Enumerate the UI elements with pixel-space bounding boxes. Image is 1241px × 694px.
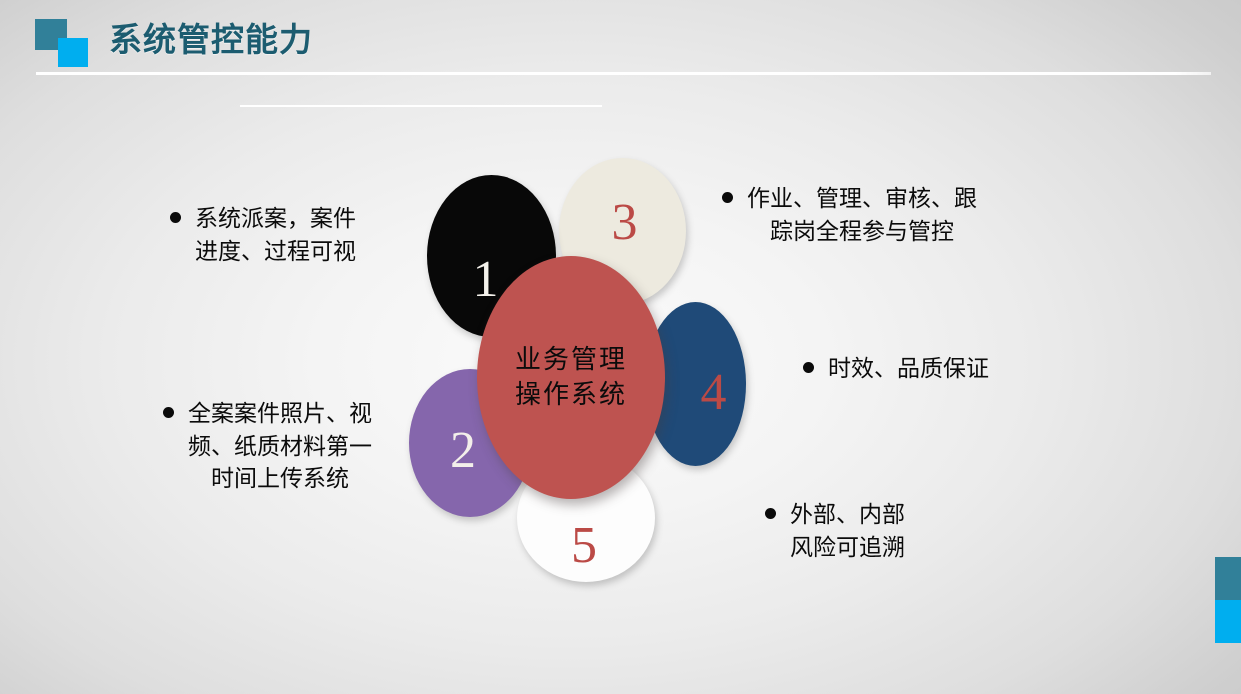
- petal-4-number: 4: [701, 367, 727, 419]
- callout-right-2: 时效、品质保证: [803, 352, 1043, 385]
- petal-5-number: 5: [571, 520, 597, 572]
- callout-right-1-text: 作业、管理、审核、跟 踪岗全程参与管控: [747, 182, 977, 247]
- callout-left-2: 全案案件照片、视 频、纸质材料第一 时间上传系统: [163, 397, 431, 495]
- bullet-dot-icon: [765, 508, 776, 519]
- center-label-line-2: 操作系统: [515, 378, 627, 412]
- petal-diagram: 1 3 2 4 5 业务管理 操作系统: [0, 0, 1241, 694]
- bullet-dot-icon: [803, 362, 814, 373]
- corner-square-bright-icon: [1215, 600, 1241, 643]
- bullet-dot-icon: [170, 212, 181, 223]
- callout-left-1: 系统派案，案件 进度、过程可视: [170, 202, 422, 267]
- callout-right-2-text: 时效、品质保证: [828, 352, 989, 385]
- petal-1-number: 1: [473, 254, 499, 306]
- bullet-dot-icon: [163, 407, 174, 418]
- slide-canvas: 系统管控能力 1 3 2 4 5 业务管理 操作系统 系统派案，案件 进度、过程…: [0, 0, 1241, 694]
- center-label-line-1: 业务管理: [515, 343, 627, 377]
- callout-right-3: 外部、内部 风险可追溯: [765, 498, 995, 563]
- corner-square-dark-icon: [1215, 557, 1241, 600]
- petal-center[interactable]: 业务管理 操作系统: [477, 256, 665, 499]
- callout-right-1: 作业、管理、审核、跟 踪岗全程参与管控: [722, 182, 1042, 247]
- callout-left-2-text: 全案案件照片、视 频、纸质材料第一 时间上传系统: [188, 397, 372, 495]
- callout-right-3-text: 外部、内部 风险可追溯: [790, 498, 905, 563]
- petal-2-number: 2: [450, 425, 476, 477]
- bullet-dot-icon: [722, 192, 733, 203]
- petal-3-number: 3: [612, 197, 638, 249]
- callout-left-1-text: 系统派案，案件 进度、过程可视: [195, 202, 356, 267]
